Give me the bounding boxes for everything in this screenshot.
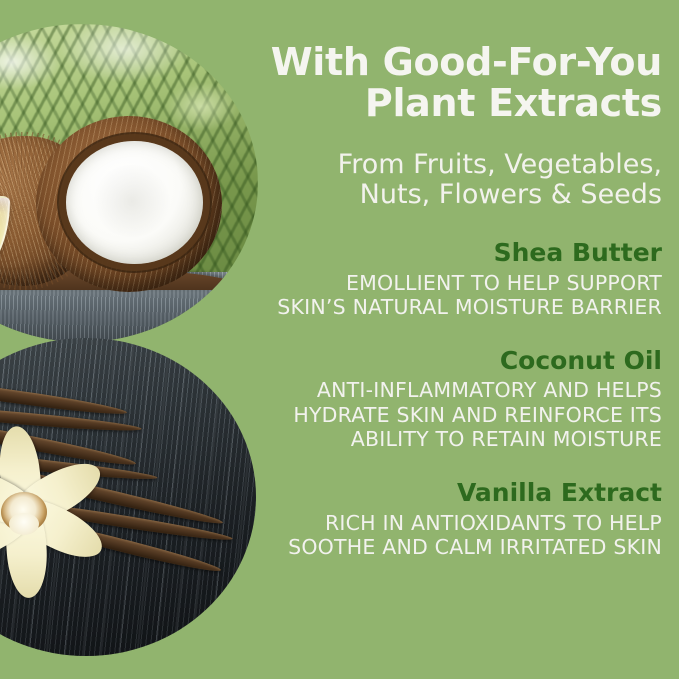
- ingredient-name: Shea Butter: [258, 238, 662, 268]
- ingredient-shea-butter: Shea Butter EMOLLIENT TO HELP SUPPORT SK…: [258, 238, 662, 320]
- halved-coconut: [36, 116, 222, 292]
- ingredient-description: EMOLLIENT TO HELP SUPPORT SKIN’S NATURAL…: [258, 271, 662, 320]
- page-title: With Good-For-You Plant Extracts: [258, 42, 662, 124]
- description-line: ANTI-INFLAMMATORY AND HELPS: [258, 378, 662, 403]
- ingredient-description: RICH IN ANTIOXIDANTS TO HELP SOOTHE AND …: [258, 511, 662, 560]
- flower-center: [1, 492, 47, 532]
- vanilla-orchid-flower: [0, 434, 112, 590]
- description-line: EMOLLIENT TO HELP SUPPORT: [258, 271, 662, 296]
- description-line: RICH IN ANTIOXIDANTS TO HELP: [258, 511, 662, 536]
- ingredient-description: ANTI-INFLAMMATORY AND HELPS HYDRATE SKIN…: [258, 378, 662, 452]
- description-line: SOOTHE AND CALM IRRITATED SKIN: [258, 535, 662, 560]
- subtitle-line-2: Nuts, Flowers & Seeds: [258, 180, 662, 211]
- ingredient-name: Vanilla Extract: [258, 478, 662, 508]
- text-column: With Good-For-You Plant Extracts From Fr…: [258, 0, 662, 679]
- description-line: SKIN’S NATURAL MOISTURE BARRIER: [258, 295, 662, 320]
- subtitle: From Fruits, Vegetables, Nuts, Flowers &…: [258, 150, 662, 212]
- title-line-1: With Good-For-You: [258, 42, 662, 83]
- coconut-photo-circle: [0, 24, 258, 342]
- ingredient-vanilla-extract: Vanilla Extract RICH IN ANTIOXIDANTS TO …: [258, 478, 662, 560]
- ingredient-name: Coconut Oil: [258, 346, 662, 376]
- ingredient-coconut-oil: Coconut Oil ANTI-INFLAMMATORY AND HELPS …: [258, 346, 662, 452]
- plant-extracts-infographic: With Good-For-You Plant Extracts From Fr…: [0, 0, 679, 679]
- vanilla-photo-circle: [0, 338, 256, 656]
- description-line: ABILITY TO RETAIN MOISTURE: [258, 427, 662, 452]
- title-line-2: Plant Extracts: [258, 83, 662, 124]
- coconut-flesh: [66, 141, 204, 264]
- flower-lip: [9, 513, 39, 535]
- subtitle-line-1: From Fruits, Vegetables,: [258, 150, 662, 181]
- description-line: HYDRATE SKIN AND REINFORCE ITS: [258, 403, 662, 428]
